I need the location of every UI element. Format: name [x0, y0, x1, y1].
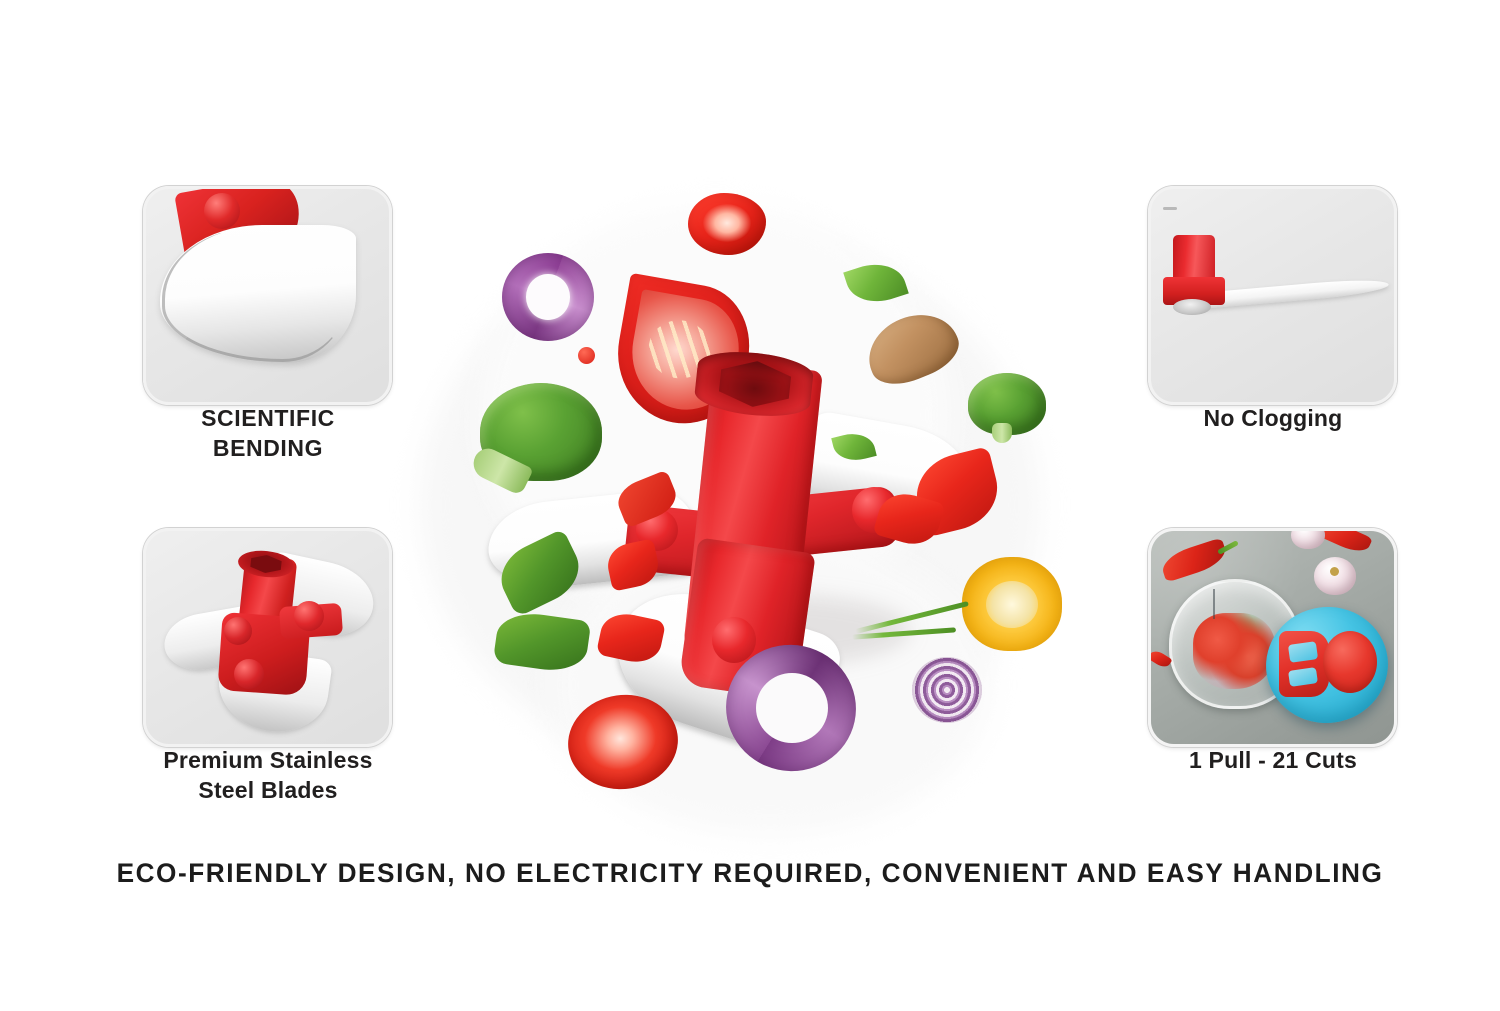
cherry-tomato-flesh	[703, 204, 751, 242]
feature-image-scientific-bending	[143, 186, 392, 405]
feature-caption-scientific-bending: SCIENTIFIC BENDING	[143, 404, 393, 464]
hero-product-composition	[400, 175, 1100, 855]
feature-caption-premium-blades: Premium Stainless Steel Blades	[143, 746, 393, 806]
poster-canvas: SCIENTIFIC BENDING Premium Stainless Ste…	[0, 0, 1500, 1011]
broccoli-floret-left	[472, 383, 602, 509]
feature-image-premium-blades	[143, 528, 392, 747]
lid-pull-handle	[1279, 631, 1329, 697]
tool-nub-bottom	[712, 617, 756, 663]
feature-caption-line-2: Steel Blades	[143, 776, 393, 806]
bottom-headline: ECO-FRIENDLY DESIGN, NO ELECTRICITY REQU…	[23, 858, 1478, 889]
onion-ring	[502, 253, 594, 341]
feature-image-no-clogging	[1148, 186, 1397, 405]
feature-caption-one-pull-21-cuts: 1 Pull - 21 Cuts	[1148, 746, 1398, 776]
lid-button	[1323, 631, 1377, 693]
pepper-slice-yellow	[962, 557, 1062, 651]
onion-ring-bottom-hole	[756, 673, 828, 743]
onion-slice-round	[912, 657, 982, 723]
broccoli-floret-right	[968, 373, 1046, 443]
feature-caption-line-1: Premium Stainless	[143, 746, 393, 776]
chopped-vegetables	[1193, 613, 1275, 689]
feature-caption-no-clogging: No Clogging	[1148, 404, 1398, 434]
garlic-bulb	[1314, 557, 1356, 595]
tomato-droplet	[578, 347, 595, 364]
feature-image-one-pull-21-cuts	[1148, 528, 1397, 747]
